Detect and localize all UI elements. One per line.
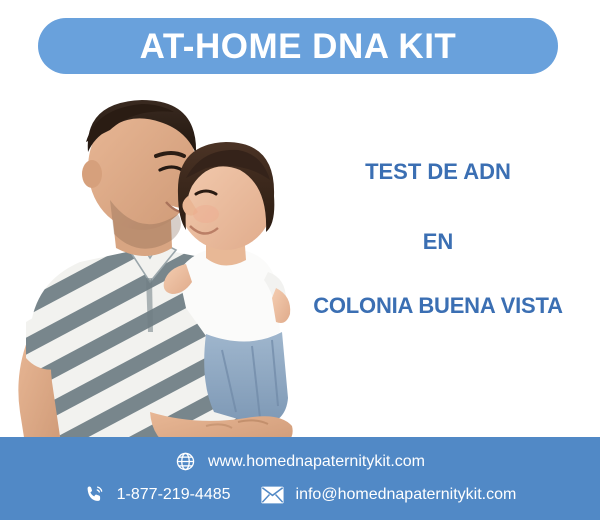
footer-contact-row: 1-877-219-4485 info@homednapaternitykit.… [0,484,600,505]
footer-bar: www.homednapaternitykit.com 1-877-219-44… [0,437,600,520]
phone-contact-item[interactable]: 1-877-219-4485 [84,484,231,505]
website-label: www.homednapaternitykit.com [208,453,425,471]
dna-kit-banner: AT-HOME DNA KIT [0,0,600,520]
page-title: AT-HOME DNA KIT [140,29,457,64]
email-contact-item[interactable]: info@homednapaternitykit.com [261,486,517,504]
main-copy-block: TEST DE ADN EN COLONIA BUENA VISTA [288,160,588,319]
globe-icon [175,451,196,472]
copy-line-location: COLONIA BUENA VISTA [288,294,588,318]
phone-label: 1-877-219-4485 [117,486,231,504]
website-contact-item[interactable]: www.homednapaternitykit.com [175,451,425,472]
father-and-child-photo [0,82,310,450]
email-label: info@homednapaternitykit.com [296,486,517,504]
header-pill: AT-HOME DNA KIT [38,18,558,74]
envelope-icon [261,486,284,504]
copy-line-en: EN [288,230,588,254]
phone-icon [84,484,105,505]
footer-website-row: www.homednapaternitykit.com [0,451,600,472]
copy-line-test-de-adn: TEST DE ADN [288,160,588,184]
